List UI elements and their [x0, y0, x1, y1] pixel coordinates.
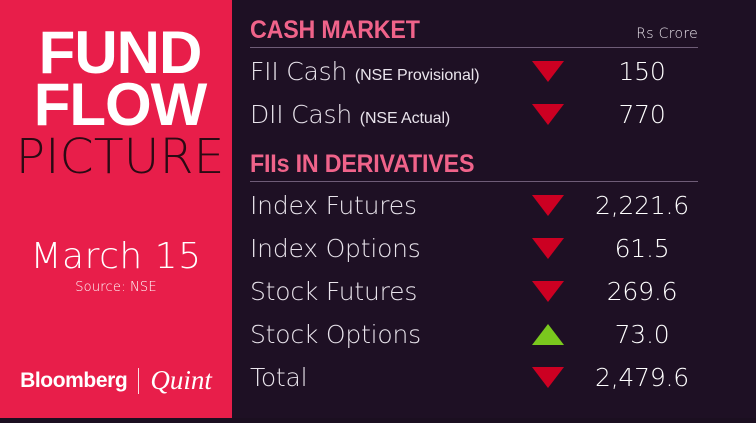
triangle-down-icon: [532, 104, 564, 125]
direction-indicator: [510, 324, 586, 345]
derivatives-header: FIIs IN DERIVATIVES: [250, 150, 698, 181]
fund-flow-graphic: FUND FLOW PICTURE March 15 Source: NSE B…: [0, 0, 756, 423]
direction-indicator: [510, 367, 586, 388]
data-panel: CASH MARKET Rs Crore FII Cash (NSE Provi…: [232, 0, 756, 418]
row-label: Total: [250, 363, 510, 392]
cash-market-header: CASH MARKET Rs Crore: [250, 16, 698, 47]
row-note: (NSE Actual): [360, 110, 450, 127]
bloombergquint-logo: Bloomberg Quint: [0, 365, 232, 396]
row-label: Stock Options: [250, 320, 510, 349]
cash-market-rows: FII Cash (NSE Provisional) 150 DII Cash …: [250, 50, 698, 136]
table-row: Stock Futures 269.6: [250, 270, 698, 313]
logo-divider: [138, 368, 139, 394]
date-label: March 15: [0, 238, 232, 276]
title-line-picture: PICTURE: [6, 133, 232, 181]
table-row: FII Cash (NSE Provisional) 150: [250, 50, 698, 93]
triangle-down-icon: [532, 61, 564, 82]
section-cash-market: CASH MARKET Rs Crore FII Cash (NSE Provi…: [250, 16, 698, 136]
date-block: March 15 Source: NSE: [0, 238, 232, 295]
triangle-down-icon: [532, 195, 564, 216]
direction-indicator: [510, 238, 586, 259]
row-label: Index Futures: [250, 191, 510, 220]
table-row: Index Options 61.5: [250, 227, 698, 270]
title-line-flow: FLOW: [8, 80, 232, 130]
bottom-strip: [0, 418, 756, 423]
triangle-down-icon: [532, 238, 564, 259]
triangle-up-icon: [532, 324, 564, 345]
table-row: DII Cash (NSE Actual) 770: [250, 93, 698, 136]
direction-indicator: [510, 61, 586, 82]
triangle-down-icon: [532, 367, 564, 388]
row-value: 2,479.6: [586, 363, 698, 392]
row-label: FII Cash (NSE Provisional): [250, 57, 510, 86]
source-label: Source: NSE: [0, 280, 232, 295]
graphic-title-block: FUND FLOW PICTURE: [8, 28, 232, 181]
row-value: 269.6: [586, 277, 698, 306]
row-note: (NSE Provisional): [355, 67, 480, 84]
triangle-down-icon: [532, 281, 564, 302]
direction-indicator: [510, 281, 586, 302]
row-label: DII Cash (NSE Actual): [250, 100, 510, 129]
table-row: Total 2,479.6: [250, 356, 698, 399]
row-value: 73.0: [586, 320, 698, 349]
row-value: 2,221.6: [586, 191, 698, 220]
cash-market-title: CASH MARKET: [250, 16, 420, 45]
row-label: Index Options: [250, 234, 510, 263]
row-value: 770: [586, 100, 698, 129]
table-row: Index Futures 2,221.6: [250, 184, 698, 227]
direction-indicator: [510, 104, 586, 125]
row-value: 61.5: [586, 234, 698, 263]
derivatives-divider: [250, 181, 698, 182]
logo-quint-text: Quint: [150, 365, 212, 396]
direction-indicator: [510, 195, 586, 216]
section-derivatives: FIIs IN DERIVATIVES Index Futures 2,221.…: [250, 150, 698, 399]
derivatives-title: FIIs IN DERIVATIVES: [250, 150, 474, 179]
table-row: Stock Options 73.0: [250, 313, 698, 356]
logo-bloomberg-text: Bloomberg: [20, 369, 127, 393]
row-label: Stock Futures: [250, 277, 510, 306]
branding-panel: FUND FLOW PICTURE March 15 Source: NSE B…: [0, 0, 232, 418]
derivatives-rows: Index Futures 2,221.6 Index Options 61.5…: [250, 184, 698, 399]
row-value: 150: [586, 57, 698, 86]
unit-label: Rs Crore: [636, 26, 698, 42]
cash-market-divider: [250, 47, 698, 48]
